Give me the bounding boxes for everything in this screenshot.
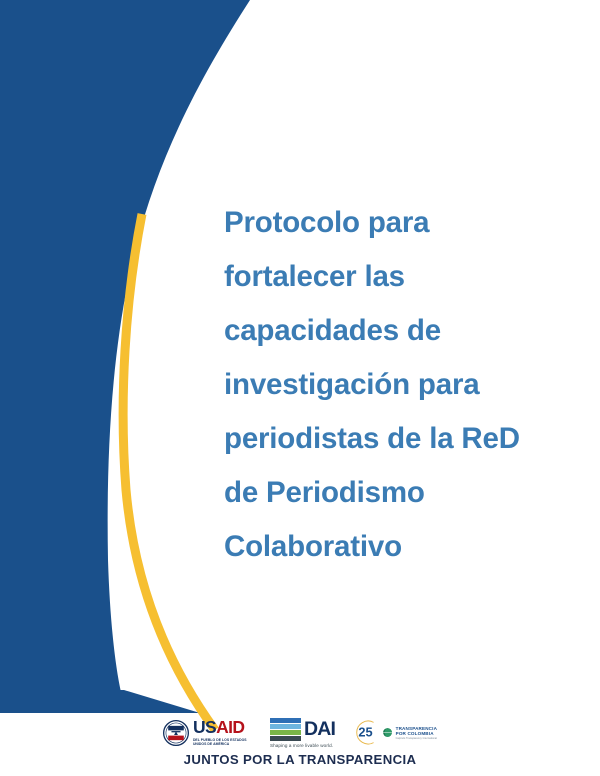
title-line-1: Protocolo para — [224, 196, 576, 250]
footer-tagline: JUNTOS POR LA TRANSPARENCIA — [0, 752, 600, 767]
tpc-text: TRANSPARENCIA POR COLOMBIA Capítulo Tran… — [396, 726, 437, 741]
dai-bar-3 — [270, 730, 301, 735]
navy-curve-shape-foot — [0, 690, 200, 713]
partner-logo-row: USAID DEL PUEBLO DE LOS ESTADOS UNIDOS D… — [0, 718, 600, 748]
tpc-subtitle: Capítulo Transparency International — [396, 737, 437, 740]
anniversary-25-icon: 25 — [352, 719, 379, 746]
dai-word: DAI — [304, 720, 335, 739]
transparencia-por-colombia-logo: 25 TRANSPARENCIA POR COLOMBIA Capítulo T… — [352, 719, 437, 746]
tpc-name-line-2: POR COLOMBIA — [396, 731, 437, 736]
title-line-3: capacidades de — [224, 304, 576, 358]
svg-text:25: 25 — [358, 725, 372, 740]
page-title: Protocolo para fortalecer las capacidade… — [224, 196, 576, 574]
usaid-logo: USAID DEL PUEBLO DE LOS ESTADOS UNIDOS D… — [163, 719, 253, 746]
title-line-6: de Periodismo — [224, 466, 576, 520]
gold-accent-curve — [123, 214, 215, 730]
dai-bar-2 — [270, 724, 301, 729]
usaid-wordmark: USAID DEL PUEBLO DE LOS ESTADOS UNIDOS D… — [193, 719, 253, 746]
dai-bar-1 — [270, 718, 301, 723]
title-line-2: fortalecer las — [224, 250, 576, 304]
usaid-tagline: DEL PUEBLO DE LOS ESTADOS UNIDOS DE AMÉR… — [193, 738, 253, 746]
transparency-globe-icon — [382, 727, 393, 738]
title-line-7: Colaborativo — [224, 520, 576, 574]
usaid-word-us: US — [193, 717, 216, 737]
tpc-nameblock: TRANSPARENCIA POR COLOMBIA Capítulo Tran… — [382, 726, 437, 741]
dai-wordmark: DAI — [270, 718, 335, 741]
dai-bar-4 — [270, 736, 301, 741]
dai-bars-icon — [270, 718, 301, 741]
title-line-4: investigación para — [224, 358, 576, 412]
dai-tagline: Shaping a more livable world. — [270, 743, 333, 748]
footer: USAID DEL PUEBLO DE LOS ESTADOS UNIDOS D… — [0, 714, 600, 776]
navy-curve-shape — [0, 0, 250, 696]
document-cover-page: Protocolo para fortalecer las capacidade… — [0, 0, 600, 776]
usaid-word-aid: AID — [216, 717, 244, 737]
usaid-word: USAID — [193, 719, 253, 736]
title-line-5: periodistas de la ReD — [224, 412, 576, 466]
usaid-seal-icon — [163, 720, 189, 746]
dai-logo: DAI Shaping a more livable world. — [270, 718, 335, 748]
